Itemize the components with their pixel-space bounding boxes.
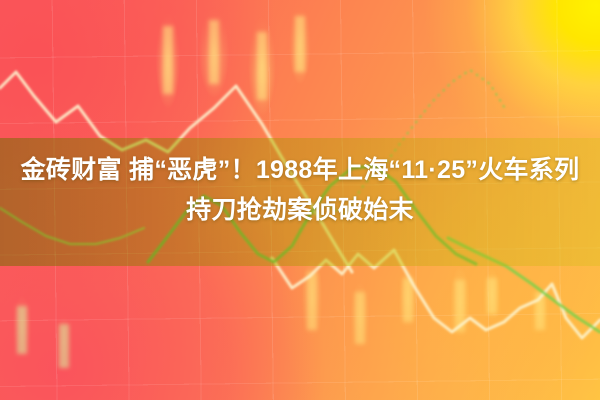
candlestick-body	[355, 292, 365, 344]
candlestick-body	[307, 272, 317, 330]
candlestick-body	[403, 278, 413, 322]
banner-image: 金砖财富 捕“恶虎”！1988年上海“11·25”火车系列持刀抢劫案侦破始末	[0, 0, 600, 400]
candlestick-body	[257, 32, 267, 100]
candlestick-body	[59, 324, 69, 368]
candlestick-body	[17, 306, 27, 354]
headline-text: 金砖财富 捕“恶虎”！1988年上海“11·25”火车系列持刀抢劫案侦破始末	[0, 150, 600, 230]
candlestick-body	[209, 20, 219, 84]
candlestick-body	[163, 26, 173, 94]
candlestick-body	[295, 16, 305, 72]
candlestick-body	[487, 278, 497, 314]
